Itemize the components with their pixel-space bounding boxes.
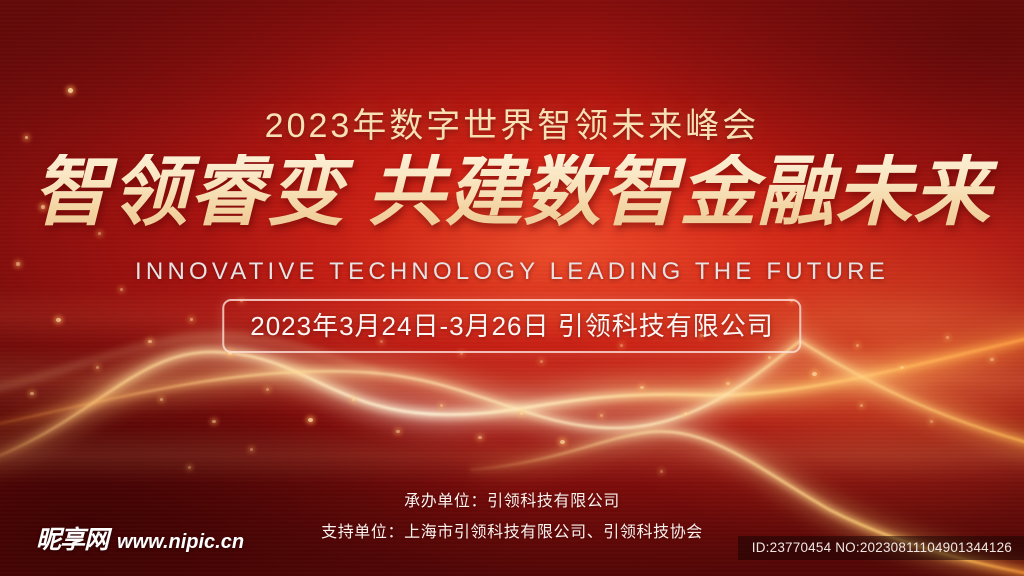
watermark-brand-logo: 昵享网 — [36, 520, 108, 556]
footer-organizer: 承办单位：引领科技有限公司 — [0, 487, 1024, 511]
event-headline: 智领睿变 共建数智金融未来 — [0, 154, 1024, 231]
event-tagline-english: INNOVATIVE TECHNOLOGY LEADING THE FUTURE — [0, 258, 1024, 286]
event-date-badge: 2023年3月24日-3月26日 引领科技有限公司 — [222, 299, 801, 353]
watermark: 昵享网 www.nipic.cn — [36, 520, 244, 556]
event-subtitle: 2023年数字世界智领未来峰会 — [0, 98, 1024, 147]
poster-canvas: 2023年数字世界智领未来峰会 智领睿变 共建数智金融未来 INNOVATIVE… — [0, 0, 1024, 576]
watermark-url: www.nipic.cn — [117, 531, 244, 554]
asset-id-label: ID:23770454 NO:20230811104901344126 — [738, 536, 1024, 560]
poster-content: 2023年数字世界智领未来峰会 智领睿变 共建数智金融未来 INNOVATIVE… — [0, 0, 1024, 576]
